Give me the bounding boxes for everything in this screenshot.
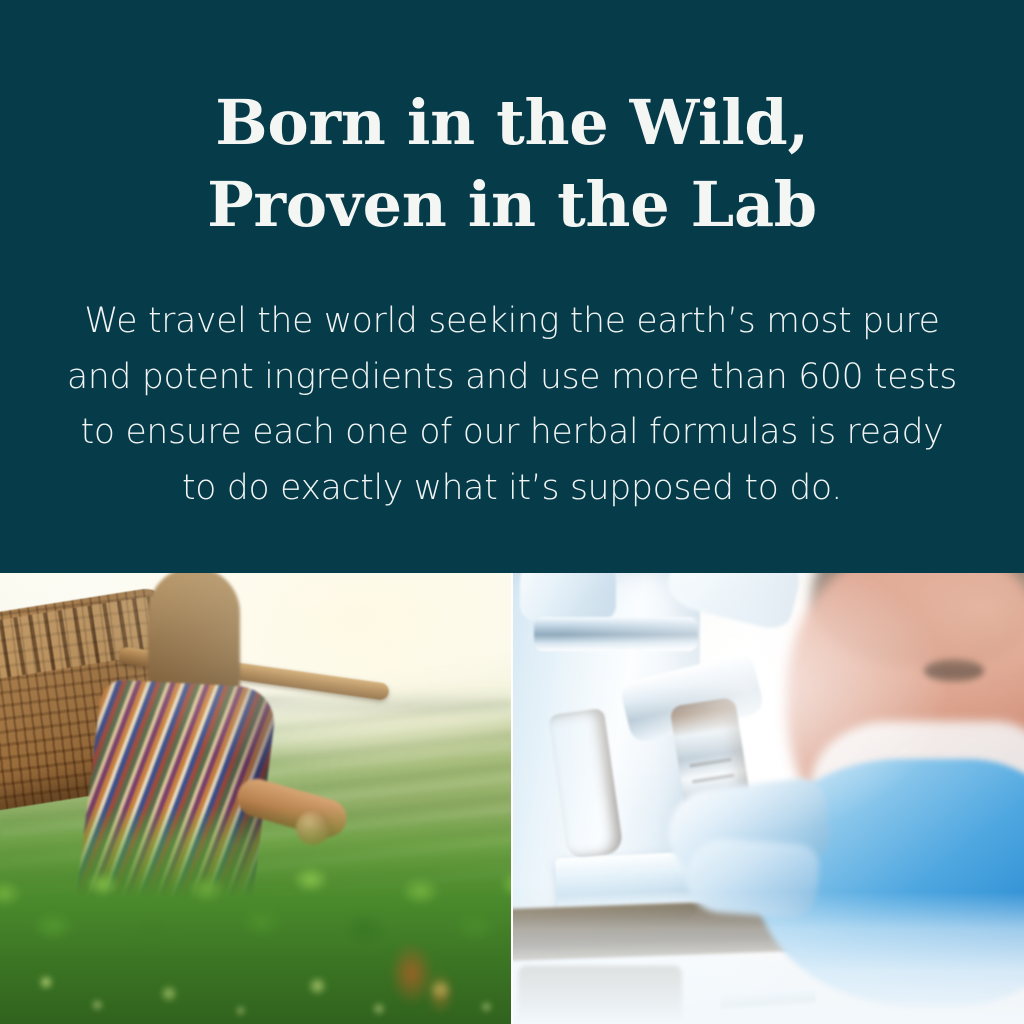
text-panel: Born in the Wild, Proven in the Lab We t… xyxy=(0,0,1024,573)
page-title: Born in the Wild, Proven in the Lab xyxy=(62,82,962,246)
microscope-eyepiece xyxy=(520,573,616,621)
microscope-chrome-collar xyxy=(534,617,698,651)
tea-harvester-photo xyxy=(0,573,512,1024)
red-leaf-accent xyxy=(354,904,474,1024)
body-copy: We travel the world seeking the earth’s … xyxy=(59,294,965,518)
brand-banner: Born in the Wild, Proven in the Lab We t… xyxy=(0,0,1024,1024)
photo-divider xyxy=(511,573,513,1024)
basket-lattice-rim xyxy=(0,594,171,691)
laboratory-microscope-photo xyxy=(512,573,1024,1024)
scientist-eye xyxy=(924,659,984,682)
lab-bench-surface xyxy=(512,892,1024,1024)
